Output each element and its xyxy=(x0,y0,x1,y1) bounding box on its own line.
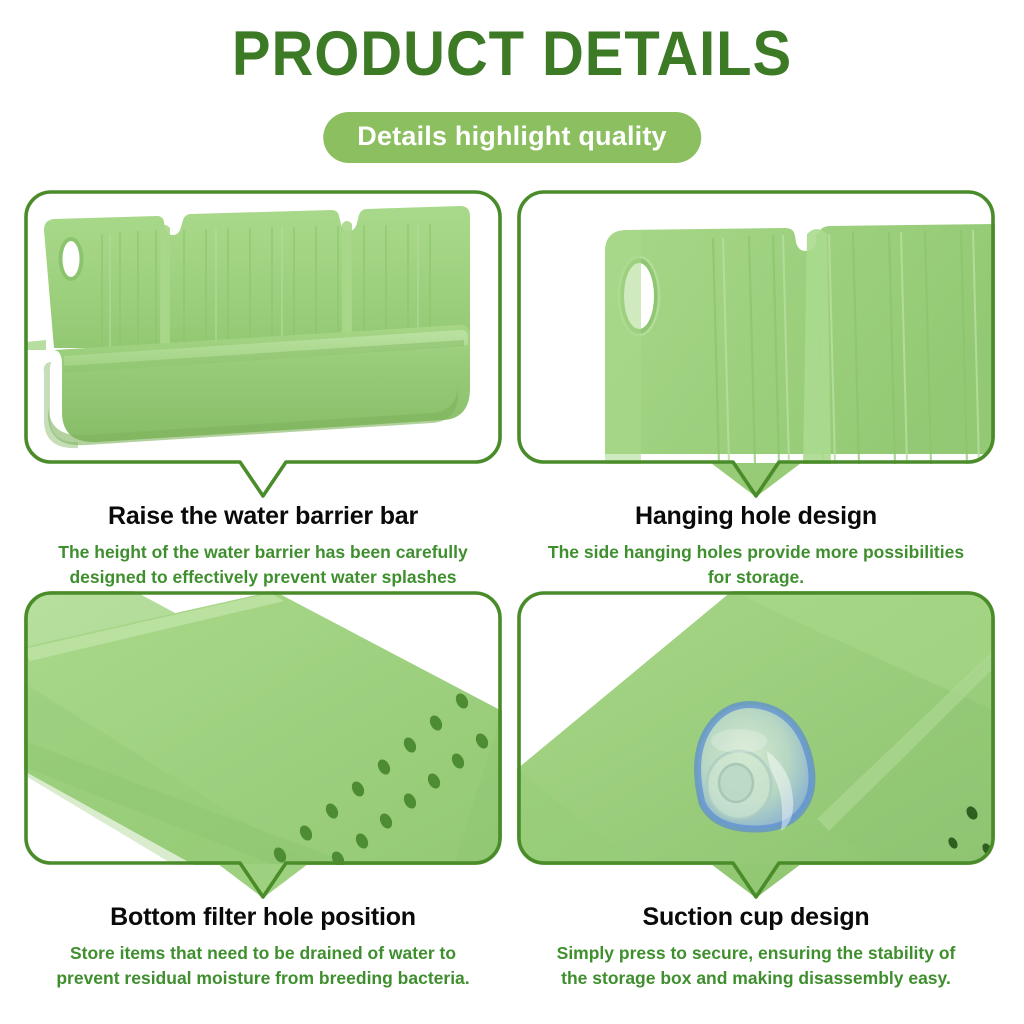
caption-suction-cup-design: Suction cup design Simply press to secur… xyxy=(517,903,995,990)
detail-card-raise-water-barrier-bar: Raise the water barrier bar The height o… xyxy=(24,190,502,464)
caption-title: Hanging hole design xyxy=(517,502,995,531)
caption-title: Suction cup design xyxy=(517,903,995,932)
photo-frame-wrapper xyxy=(517,591,995,865)
product-photo-hanging-hole xyxy=(517,190,995,464)
caption-hanging-hole-design: Hanging hole design The side hanging hol… xyxy=(517,502,995,589)
product-photo-shelf xyxy=(24,190,502,464)
product-photo-suction-cup xyxy=(517,591,995,865)
product-photo-filter-holes xyxy=(24,591,502,865)
caption-title: Raise the water barrier bar xyxy=(24,502,502,531)
caption-title: Bottom filter hole position xyxy=(24,903,502,932)
subtitle-pill: Details highlight quality xyxy=(323,112,701,163)
bubble-tail-fill xyxy=(218,463,308,499)
detail-card-suction-cup-design: Suction cup design Simply press to secur… xyxy=(517,591,995,865)
caption-body: The side hanging holes provide more poss… xyxy=(517,540,995,590)
bubble-tail-fill xyxy=(711,864,801,900)
photo-frame-hanging-hole-design xyxy=(517,190,995,464)
photo-frame-wrapper xyxy=(24,591,502,865)
detail-card-bottom-filter-hole-position: Bottom filter hole position Store items … xyxy=(24,591,502,865)
photo-frame-wrapper xyxy=(24,190,502,464)
caption-body: Store items that need to be drained of w… xyxy=(24,941,502,991)
bubble-tail-fill xyxy=(711,463,801,499)
caption-body: Simply press to secure, ensuring the sta… xyxy=(517,941,995,991)
photo-frame-raise-water-barrier-bar xyxy=(24,190,502,464)
page-title: PRODUCT DETAILS xyxy=(41,18,983,90)
bubble-tail-fill xyxy=(218,864,308,900)
caption-bottom-filter-hole-position: Bottom filter hole position Store items … xyxy=(24,903,502,990)
photo-frame-bottom-filter-hole-position xyxy=(24,591,502,865)
photo-frame-suction-cup-design xyxy=(517,591,995,865)
detail-card-hanging-hole-design: Hanging hole design The side hanging hol… xyxy=(517,190,995,464)
photo-frame-wrapper xyxy=(517,190,995,464)
